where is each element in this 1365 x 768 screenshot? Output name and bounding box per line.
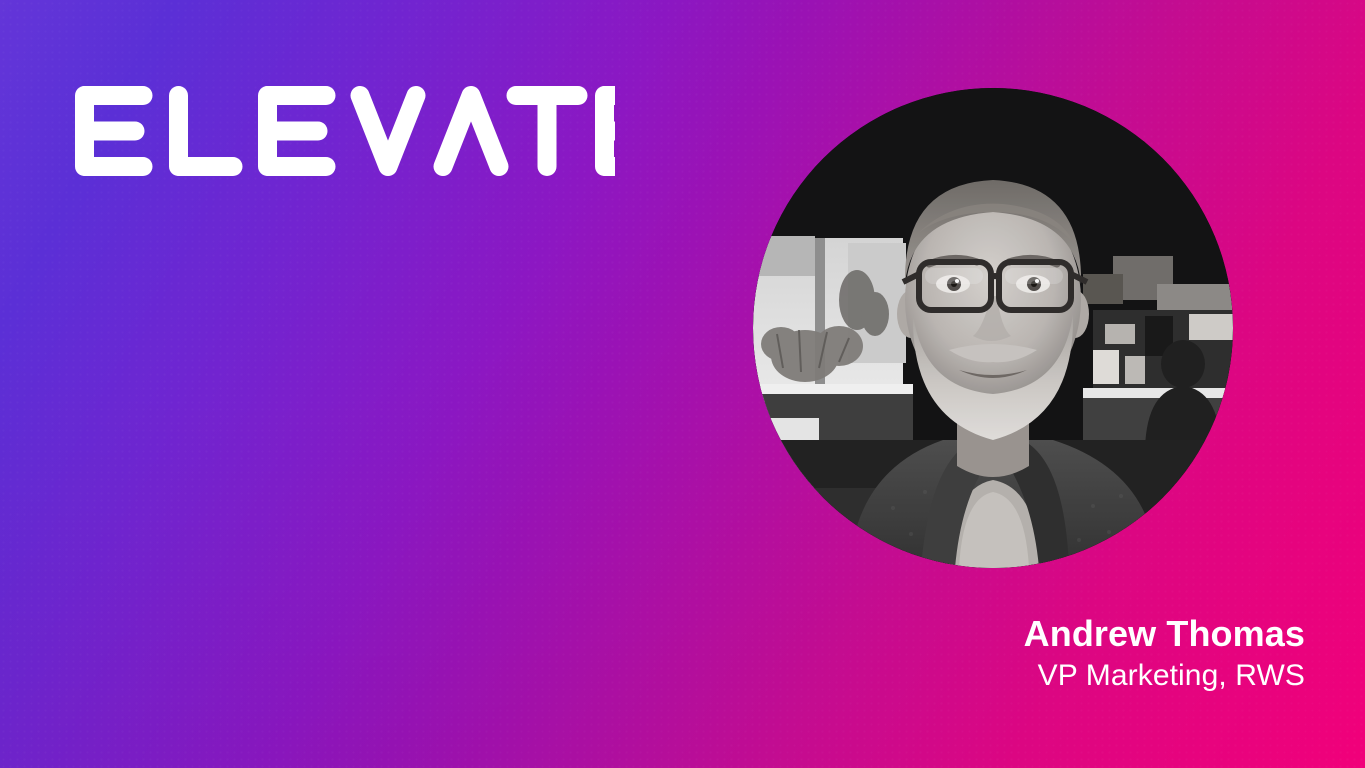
speaker-name-block: Andrew Thomas VP Marketing, RWS bbox=[785, 612, 1305, 696]
speaker-role: VP Marketing, RWS bbox=[785, 656, 1305, 696]
elevate-logo-wordmark bbox=[75, 86, 615, 176]
speaker-avatar-photo bbox=[753, 88, 1233, 568]
speaker-avatar bbox=[753, 88, 1233, 568]
speaker-title-slide: Andrew Thomas VP Marketing, RWS bbox=[0, 0, 1365, 768]
speaker-name: Andrew Thomas bbox=[785, 612, 1305, 656]
elevate-logo bbox=[75, 86, 615, 176]
